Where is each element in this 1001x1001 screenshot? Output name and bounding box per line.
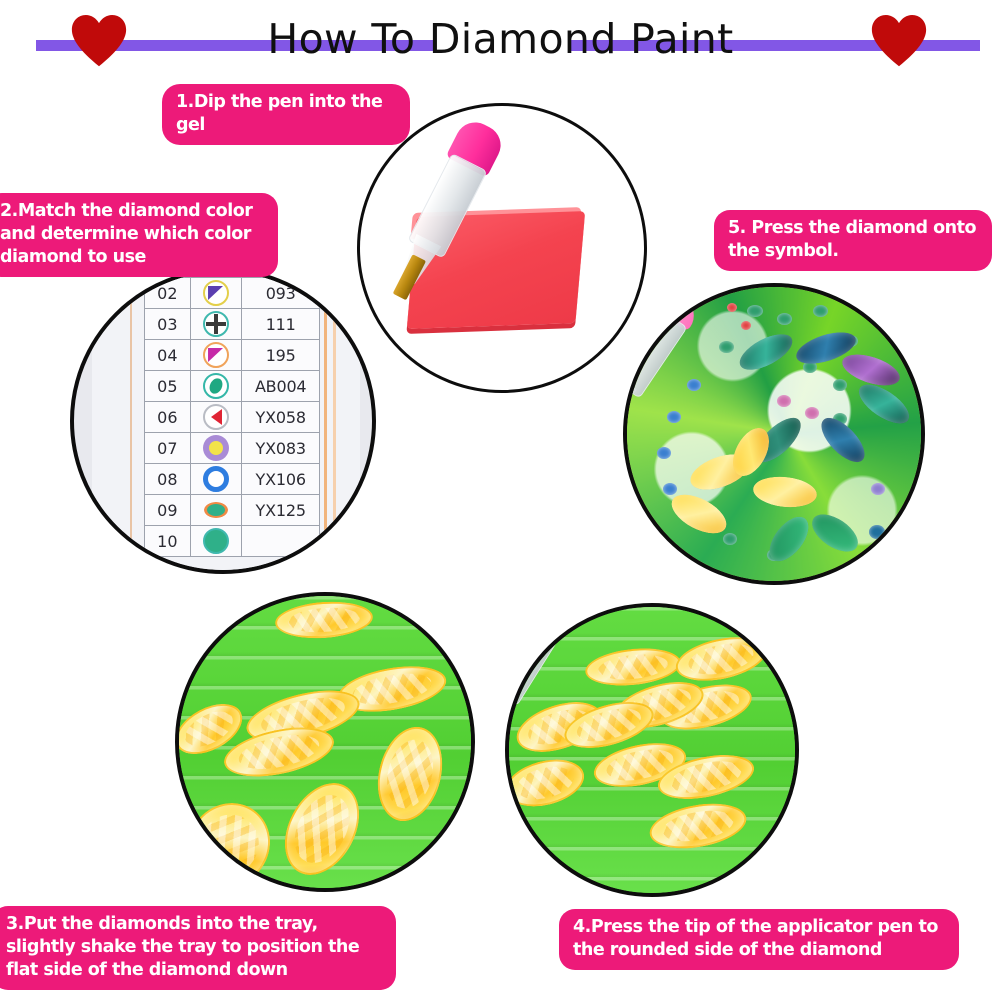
chart-cell-number: 04 xyxy=(145,340,191,371)
color-chart-row: 04195 xyxy=(145,340,320,371)
sheet-guide-line xyxy=(333,268,336,574)
canvas-stone xyxy=(723,533,737,545)
leaf-icon xyxy=(190,495,242,526)
color-chart-row: 02093 xyxy=(145,278,320,309)
step-5-label: 5. Press the diamond onto the symbol. xyxy=(714,210,992,271)
plus-icon xyxy=(190,309,242,340)
sheet-guide-line xyxy=(324,268,327,574)
chart-cell-number: 03 xyxy=(145,309,191,340)
step-5-photo xyxy=(623,283,925,585)
chart-cell-code: YX058 xyxy=(242,402,320,433)
pen-tip-icon xyxy=(393,254,426,300)
step-1-photo xyxy=(357,103,647,393)
canvas-stone xyxy=(741,321,751,330)
canvas-stone xyxy=(871,483,885,495)
canvas-stone xyxy=(869,525,885,539)
color-chart-row: 07YX083 xyxy=(145,433,320,464)
chart-cell-number: 07 xyxy=(145,433,191,464)
chart-cell-number: 09 xyxy=(145,495,191,526)
open-ring-icon xyxy=(190,464,242,495)
step-3-photo xyxy=(175,592,475,892)
partial-icon xyxy=(190,526,242,557)
canvas-stone xyxy=(805,407,819,419)
canvas-stone xyxy=(833,379,847,391)
canvas-stone xyxy=(777,395,791,407)
triangle-icon xyxy=(190,340,242,371)
step-4-photo xyxy=(505,603,799,897)
canvas-stone xyxy=(727,303,737,312)
slash-oval-icon xyxy=(190,371,242,402)
triangle-icon xyxy=(190,278,242,309)
color-chart-table: 0102802093031110419505AB00406YX05807YX08… xyxy=(144,268,320,557)
chart-cell-number: 06 xyxy=(145,402,191,433)
chart-cell-number: 10 xyxy=(145,526,191,557)
chart-cell-number: 05 xyxy=(145,371,191,402)
color-chart-row: 05AB004 xyxy=(145,371,320,402)
color-chart-row: 03111 xyxy=(145,309,320,340)
chart-cell-code: AB004 xyxy=(242,371,320,402)
chart-cell-number: 08 xyxy=(145,464,191,495)
step-3-label: 3.Put the diamonds into the tray, slight… xyxy=(0,906,396,990)
arrow-left-icon xyxy=(190,402,242,433)
step-4-label: 4.Press the tip of the applicator pen to… xyxy=(559,909,959,970)
color-chart-row: 09YX125 xyxy=(145,495,320,526)
chart-cell-code: YX106 xyxy=(242,464,320,495)
canvas-stone xyxy=(663,483,677,495)
chart-cell-code: 195 xyxy=(242,340,320,371)
canvas-stone xyxy=(813,305,828,317)
color-chart-row: 10 xyxy=(145,526,320,557)
step-1-label: 1.Dip the pen into the gel xyxy=(162,84,410,145)
canvas-stone xyxy=(719,341,734,353)
canvas-stone xyxy=(777,313,792,325)
canvas-stone xyxy=(687,379,701,391)
step-2-label: 2.Match the diamond color and determine … xyxy=(0,193,278,277)
canvas-stone xyxy=(747,305,763,317)
color-chart-row: 06YX058 xyxy=(145,402,320,433)
dot-ring-icon xyxy=(190,433,242,464)
canvas-stone xyxy=(657,447,671,459)
chart-cell-code xyxy=(242,526,320,557)
chart-cell-code: 093 xyxy=(242,278,320,309)
sheet-guide-line xyxy=(130,268,132,574)
canvas-stone xyxy=(667,411,681,423)
color-chart-row: 08YX106 xyxy=(145,464,320,495)
color-chart-sheet: 0102802093031110419505AB00406YX05807YX08… xyxy=(92,268,360,574)
page-title: How To Diamond Paint xyxy=(0,14,1001,64)
page-header: How To Diamond Paint xyxy=(0,0,1001,78)
chart-cell-code: YX125 xyxy=(242,495,320,526)
chart-cell-code: YX083 xyxy=(242,433,320,464)
chart-cell-code: 111 xyxy=(242,309,320,340)
step-2-photo: 0102802093031110419505AB00406YX05807YX08… xyxy=(70,268,376,574)
chart-cell-number: 02 xyxy=(145,278,191,309)
